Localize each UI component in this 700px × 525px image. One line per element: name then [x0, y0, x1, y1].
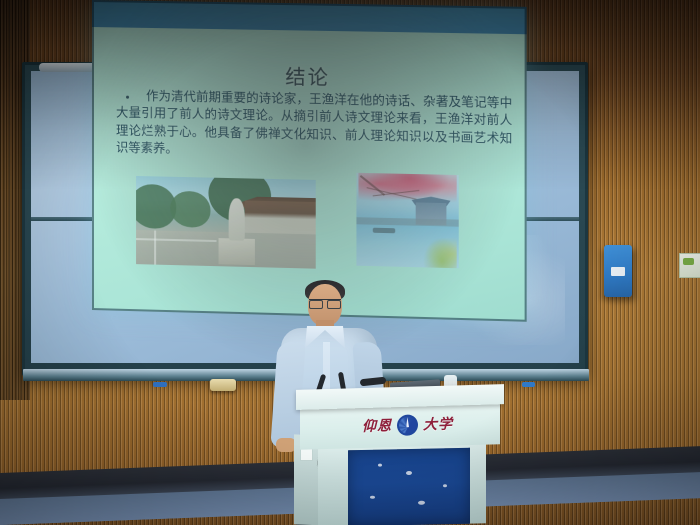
marker-pen-2	[522, 382, 535, 387]
slide-body-text: 作为清代前期重要的诗论家，王渔洋在他的诗话、杂著及笔记等中大量引用了前人的诗文理…	[116, 87, 512, 165]
emergency-exit-sign	[679, 253, 700, 278]
lectern-podium: 仰恩 大学	[296, 387, 504, 525]
university-name-right: 大学	[423, 413, 453, 434]
path-line	[154, 230, 156, 264]
hand-left	[276, 438, 296, 452]
slide-photo-group	[136, 168, 481, 273]
university-name-left: 仰恩	[362, 415, 392, 436]
panel-speckle	[370, 496, 375, 499]
lake-bank	[356, 217, 458, 226]
panel-speckle	[378, 464, 382, 467]
projection-screen: 结论 作为清代前期重要的诗论家，王渔洋在他的诗话、杂著及笔记等中大量引用了前人的…	[92, 0, 527, 322]
statue-plinth	[219, 238, 255, 265]
marker-pen	[153, 382, 167, 387]
statue-figure	[229, 198, 245, 241]
panel-speckle	[418, 501, 425, 505]
whiteboard-eraser	[210, 379, 236, 391]
autumn-lake-photo	[356, 173, 458, 268]
podium-front-panel	[348, 448, 470, 525]
presentation-slide: 结论 作为清代前期重要的诗论家，王渔洋在他的诗话、杂著及笔记等中大量引用了前人的…	[92, 27, 527, 322]
lecture-hall-photo: 结论 作为清代前期重要的诗论家，王渔洋在他的诗话、杂著及笔记等中大量引用了前人的…	[0, 0, 700, 525]
podium-branding: 仰恩 大学	[362, 409, 502, 439]
tree-shape	[170, 191, 210, 228]
boat	[373, 228, 395, 234]
statue-courtyard-photo	[136, 176, 316, 269]
waterside-grass	[420, 233, 457, 268]
panel-speckle	[406, 471, 412, 475]
glasses-icon	[309, 299, 341, 308]
panel-speckle	[443, 484, 447, 487]
blue-wall-box	[604, 245, 632, 297]
yangen-university-emblem-icon	[397, 414, 418, 436]
